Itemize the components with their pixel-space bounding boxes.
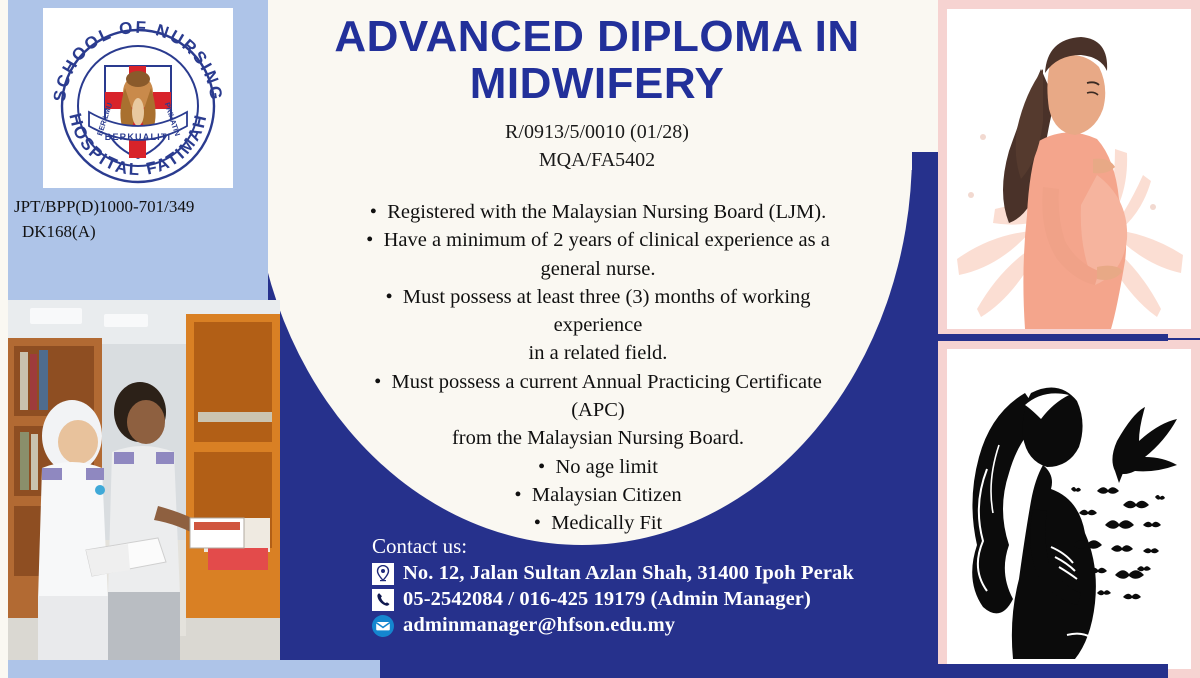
programme-codes: R/0913/5/0010 (01/28) MQA/FA5402 [272, 118, 922, 175]
requirement-line: Have a minimum of 2 years of clinical ex… [292, 226, 904, 254]
location-pin-icon [372, 563, 394, 585]
requirement-line: No age limit [292, 453, 904, 481]
code-mqa: MQA/FA5402 [272, 146, 922, 174]
contact-address[interactable]: No. 12, Jalan Sultan Azlan Shah, 31400 I… [403, 562, 854, 585]
library-scene-illustration [8, 300, 280, 660]
requirement-line: (APC) [292, 396, 904, 424]
envelope-icon [372, 615, 394, 637]
right-blue-bottom-bar [930, 664, 1168, 678]
svg-text:BERKUALITI: BERKUALITI [105, 132, 172, 142]
registration-line-1: JPT/BPP(D)1000-701/349 [14, 195, 264, 220]
contact-phone[interactable]: 05-2542084 / 016-425 19179 (Admin Manage… [403, 588, 811, 611]
pregnant-silhouette-frame [938, 340, 1200, 678]
pregnant-illustration-frame [938, 0, 1200, 338]
phone-icon [372, 589, 394, 611]
requirement-line: Malaysian Citizen [292, 481, 904, 509]
requirement-line: in a related field. [292, 339, 904, 367]
headline-line-2: MIDWIFERY [272, 61, 922, 108]
requirement-line: Must possess a current Annual Practicing… [292, 368, 904, 396]
code-reference: R/0913/5/0010 (01/28) [272, 118, 922, 146]
school-of-nursing-crest-icon: SCHOOL OF NURSING HOSPITAL FATIMAH BERKU… [43, 8, 233, 188]
logo-container: SCHOOL OF NURSING HOSPITAL FATIMAH BERKU… [43, 8, 233, 188]
right-images-divider [938, 334, 1168, 341]
pregnant-silhouette-with-birds [947, 349, 1191, 669]
contact-email[interactable]: adminmanager@hfson.edu.my [403, 614, 675, 637]
nursing-students-photo [8, 300, 280, 660]
contact-block: Contact us: No. 12, Jalan Sultan Azlan S… [372, 534, 854, 640]
registration-line-2: DK168(A) [14, 220, 264, 245]
poster-headline: ADVANCED DIPLOMA IN MIDWIFERY [272, 14, 922, 107]
requirement-line: Registered with the Malaysian Nursing Bo… [292, 198, 904, 226]
contact-email-row: adminmanager@hfson.edu.my [372, 614, 854, 637]
contact-phone-row: 05-2542084 / 016-425 19179 (Admin Manage… [372, 588, 854, 611]
bottom-light-blue-strip [8, 660, 380, 678]
requirement-line: experience [292, 311, 904, 339]
requirement-line: Must possess at least three (3) months o… [292, 283, 904, 311]
pregnant-woman-illustration [947, 9, 1191, 329]
registration-numbers: JPT/BPP(D)1000-701/349 DK168(A) [14, 195, 264, 244]
requirement-line: from the Malaysian Nursing Board. [292, 424, 904, 452]
entry-requirements-list: Registered with the Malaysian Nursing Bo… [292, 198, 904, 537]
poster-canvas: SCHOOL OF NURSING HOSPITAL FATIMAH BERKU… [0, 0, 1200, 678]
contact-heading: Contact us: [372, 534, 854, 559]
requirement-line: general nurse. [292, 255, 904, 283]
contact-address-row: No. 12, Jalan Sultan Azlan Shah, 31400 I… [372, 562, 854, 585]
headline-line-1: ADVANCED DIPLOMA IN [272, 14, 922, 61]
